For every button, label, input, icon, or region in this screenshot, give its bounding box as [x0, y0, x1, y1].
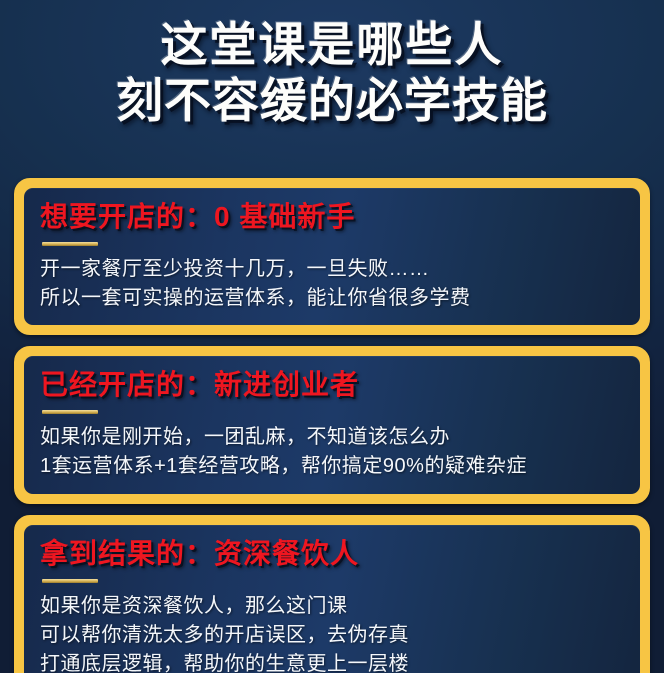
audience-card: 拿到结果的：资深餐饮人 如果你是资深餐饮人，那么这门课 可以帮你清洗太多的开店误… [14, 515, 650, 673]
body-line: 1套运营体系+1套经营攻略，帮你搞定90%的疑难杂症 [40, 452, 624, 481]
body-line: 开一家餐厅至少投资十几万，一旦失败…… [40, 255, 624, 284]
audience-card-panel: 拿到结果的：资深餐饮人 如果你是资深餐饮人，那么这门课 可以帮你清洗太多的开店误… [24, 525, 640, 673]
audience-card-title: 已经开店的：新进创业者 [40, 367, 624, 403]
audience-card-body: 开一家餐厅至少投资十几万，一旦失败…… 所以一套可实操的运营体系，能让你省很多学… [40, 255, 624, 313]
audience-card-title: 想要开店的：0 基础新手 [40, 199, 624, 235]
audience-card-title: 拿到结果的：资深餐饮人 [40, 536, 624, 572]
title-divider [42, 242, 98, 246]
audience-card-panel: 已经开店的：新进创业者 如果你是刚开始，一团乱麻，不知道该怎么办 1套运营体系+… [24, 356, 640, 494]
audience-card-body: 如果你是资深餐饮人，那么这门课 可以帮你清洗太多的开店误区，去伪存真 打通底层逻… [40, 592, 624, 673]
audience-card-list: 想要开店的：0 基础新手 开一家餐厅至少投资十几万，一旦失败…… 所以一套可实操… [14, 178, 650, 673]
poster-heading: 这堂课是哪些人 刻不容缓的必学技能 [0, 18, 664, 130]
audience-card-body: 如果你是刚开始，一团乱麻，不知道该怎么办 1套运营体系+1套经营攻略，帮你搞定9… [40, 423, 624, 481]
audience-card: 已经开店的：新进创业者 如果你是刚开始，一团乱麻，不知道该怎么办 1套运营体系+… [14, 346, 650, 504]
body-line: 打通底层逻辑，帮助你的生意更上一层楼 [40, 650, 624, 673]
body-line: 如果你是资深餐饮人，那么这门课 [40, 592, 624, 621]
audience-card: 想要开店的：0 基础新手 开一家餐厅至少投资十几万，一旦失败…… 所以一套可实操… [14, 178, 650, 335]
body-line: 所以一套可实操的运营体系，能让你省很多学费 [40, 284, 624, 313]
title-divider [42, 410, 98, 414]
body-line: 如果你是刚开始，一团乱麻，不知道该怎么办 [40, 423, 624, 452]
heading-line-2: 刻不容缓的必学技能 [0, 74, 664, 130]
audience-card-panel: 想要开店的：0 基础新手 开一家餐厅至少投资十几万，一旦失败…… 所以一套可实操… [24, 188, 640, 325]
heading-line-1: 这堂课是哪些人 [0, 18, 664, 74]
body-line: 可以帮你清洗太多的开店误区，去伪存真 [40, 621, 624, 650]
title-divider [42, 579, 98, 583]
